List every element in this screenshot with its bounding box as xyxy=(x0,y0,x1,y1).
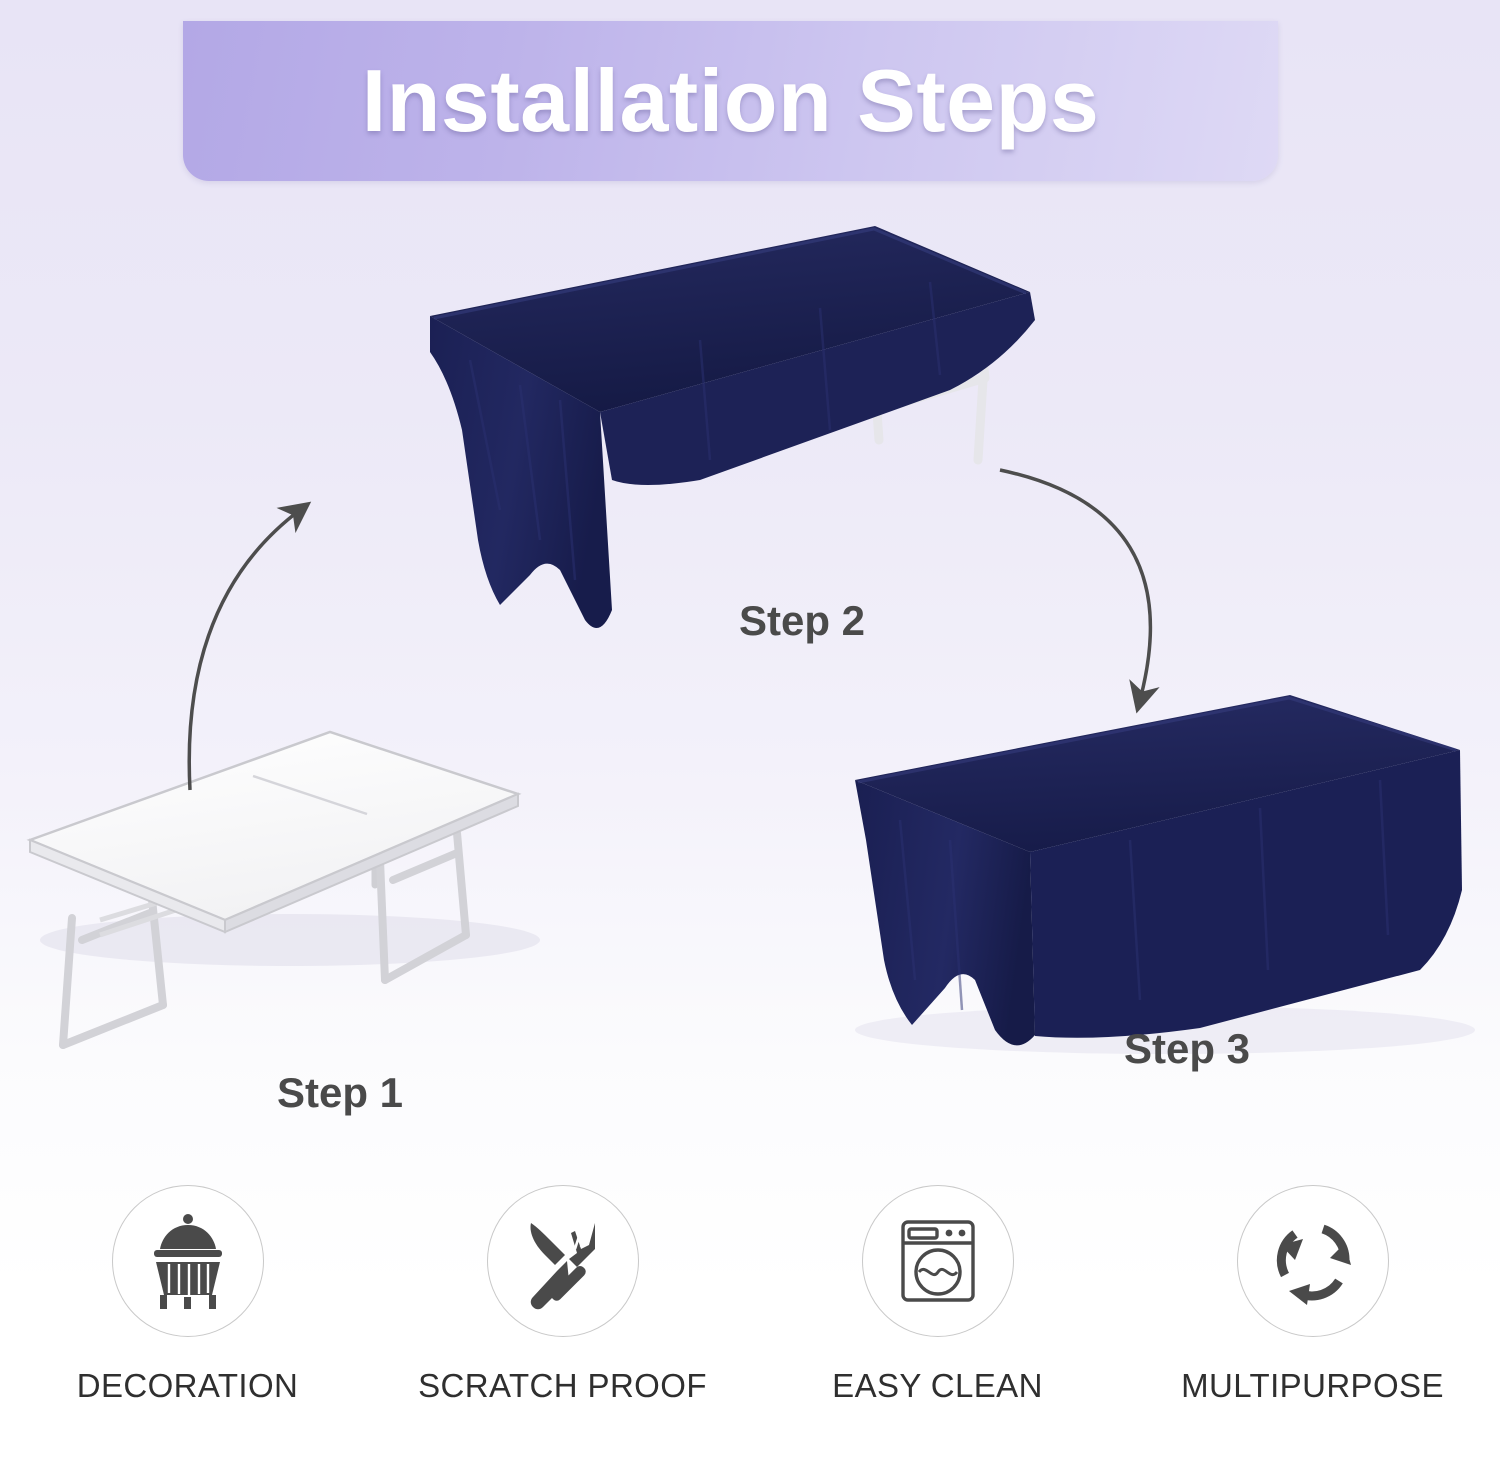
step-3-label: Step 3 xyxy=(1124,1025,1250,1073)
feature-scratch-proof: SCRATCH PROOF xyxy=(375,1185,750,1464)
feature-label: SCRATCH PROOF xyxy=(418,1367,707,1405)
step1-folding-table xyxy=(30,732,540,1045)
installation-diagram: Step 1 Step 2 Step 3 xyxy=(0,180,1500,1180)
recycle-arrows-icon xyxy=(1261,1209,1365,1313)
feature-label: EASY CLEAN xyxy=(832,1367,1043,1405)
fork-knife-icon xyxy=(511,1209,615,1313)
washing-machine-icon xyxy=(886,1209,990,1313)
feature-easy-clean: EASY CLEAN xyxy=(750,1185,1125,1464)
feature-icon-circle xyxy=(862,1185,1014,1337)
step3-fitted-cover xyxy=(855,695,1475,1054)
feature-multipurpose: MULTIPURPOSE xyxy=(1125,1185,1500,1464)
feature-icon-circle xyxy=(487,1185,639,1337)
arrow-step2-to-step3 xyxy=(1000,470,1150,700)
diagram-canvas xyxy=(0,180,1500,1180)
feature-decoration: DECORATION xyxy=(0,1185,375,1464)
step-2-label: Step 2 xyxy=(739,597,865,645)
product-infographic: Installation Steps xyxy=(0,0,1500,1464)
feature-icon-circle xyxy=(1237,1185,1389,1337)
table-cloth-icon xyxy=(136,1209,240,1313)
feature-icon-circle xyxy=(112,1185,264,1337)
feature-label: MULTIPURPOSE xyxy=(1181,1367,1444,1405)
step-1-label: Step 1 xyxy=(277,1069,403,1117)
page-title: Installation Steps xyxy=(183,21,1278,181)
feature-label: DECORATION xyxy=(77,1367,299,1405)
step2-cover-draping xyxy=(430,226,1035,628)
title-banner: Installation Steps xyxy=(183,21,1278,181)
feature-row: DECORATION xyxy=(0,1185,1500,1464)
